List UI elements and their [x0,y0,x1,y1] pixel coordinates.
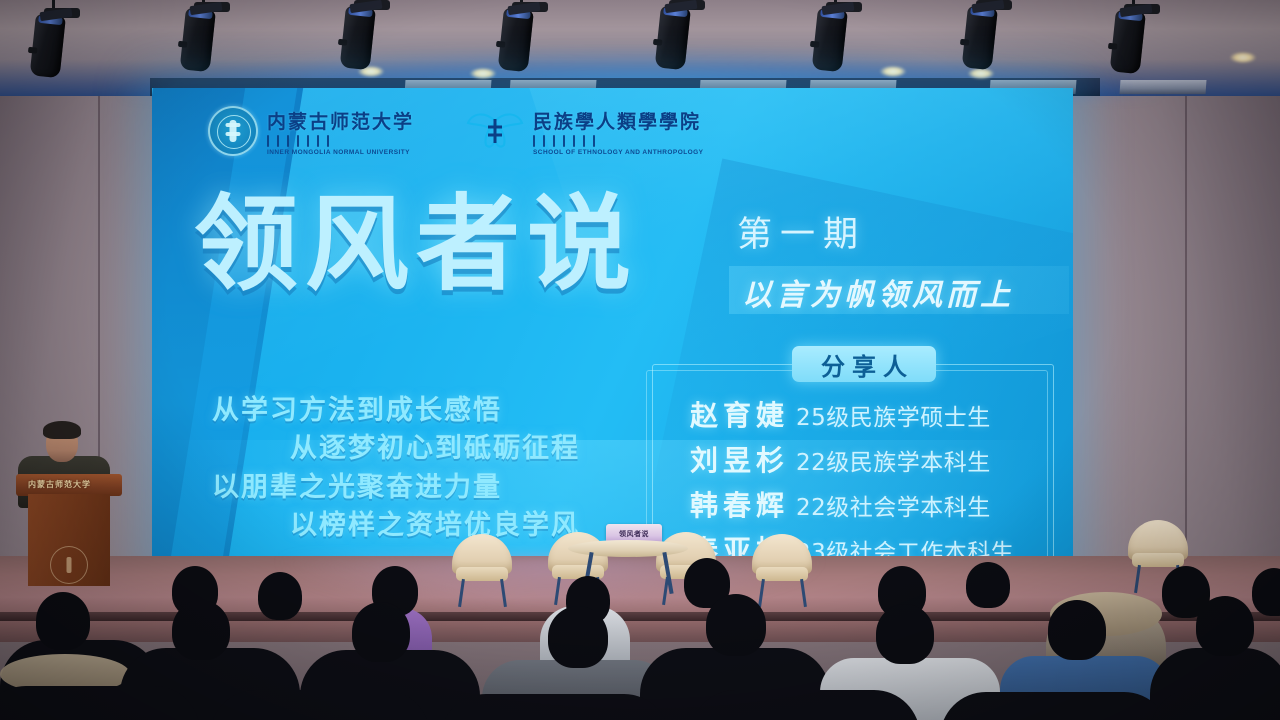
logo-school-of-ethnology-and-anthropology: 民族學人類學學院 SCHOOL OF ETHNOLOGY AND ANTHROP… [466,107,703,156]
audience-head [36,592,90,650]
lectern-podium: 内蒙古师范大学 [22,474,116,584]
speaker-row: 赵育婕 25级民族学硕士生 [690,394,1014,434]
audience-head [258,572,302,620]
audience-head [966,562,1010,608]
speakers-heading-badge: 分享人 [792,346,936,382]
event-title: 领风者说 [194,192,638,296]
ceiling-downlight [1230,52,1256,63]
audience-head [876,604,934,664]
speaker-name: 刘昱杉 [690,439,796,479]
event-slogan-block: 从学习方法到成长感悟 从逐梦初心到砥砺征程 以朋辈之光聚奋进力量 以榜样之资培优… [212,392,652,545]
podium-university-label: 内蒙古师范大学 [28,479,91,490]
table-nameplate-label: 领风者说 [619,529,649,539]
audience-head [1196,596,1254,656]
speaker-row: 刘昱杉 22级民族学本科生 [690,439,1014,479]
audience-head [172,600,230,660]
audience-shoulders [210,690,430,720]
slogan-line: 从逐梦初心到砥砺征程 [212,430,652,468]
event-issue-number: 第一期 [737,206,866,257]
speaker-affiliation: 22级社会学本科生 [796,488,991,522]
mongolian-script-icon [267,135,414,148]
speaker-row: 韩春辉 22级社会学本科生 [690,484,1014,524]
audience-shoulders [940,692,1170,720]
ceiling-downlight [968,68,994,79]
butterfly-emblem-icon [466,109,524,153]
audience-shoulders [0,686,200,720]
slogan-line: 以朋辈之光聚奋进力量 [212,469,652,507]
audience-head [706,594,766,656]
speaker-affiliation: 25级民族学硕士生 [796,398,991,432]
speaker-name: 赵育婕 [690,394,796,434]
logo-cn-text: 民族學人類學學院 [533,107,703,134]
truss-segment [1120,80,1207,94]
led-presentation-screen: 内蒙古师范大学 INNER MONGOLIA NORMAL UNIVERSITY [152,88,1073,580]
slogan-line: 从学习方法到成长感悟 [212,392,652,430]
podium-seal-icon [50,546,88,584]
logo-en-text: INNER MONGOLIA NORMAL UNIVERSITY [267,149,414,156]
ceiling-downlight [470,68,496,79]
university-seal-icon [208,106,258,156]
speaker-name: 韩春辉 [690,484,796,524]
speakers-heading-label: 分享人 [814,347,914,382]
logo-inner-mongolia-normal-university: 内蒙古师范大学 INNER MONGOLIA NORMAL UNIVERSITY [208,106,414,156]
audience-head [352,602,410,662]
logo-en-text: SCHOOL OF ETHNOLOGY AND ANTHROPOLOGY [533,149,703,156]
wall-seam [1185,60,1187,560]
auditorium-photo: 内蒙古师范大学 INNER MONGOLIA NORMAL UNIVERSITY [0,0,1280,720]
speaker-affiliation: 22级民族学本科生 [796,443,991,477]
logo-bar: 内蒙古师范大学 INNER MONGOLIA NORMAL UNIVERSITY [208,106,703,156]
audience-head [548,606,608,668]
audience-shoulders [690,690,920,720]
mongolian-script-icon [533,135,703,148]
speaker-list: 赵育婕 25级民族学硕士生 刘昱杉 22级民族学本科生 韩春辉 22级社会学本科… [690,394,1014,574]
audience-head [1048,600,1106,660]
ceiling-downlight [880,66,906,77]
event-tagline: 以言为帆领风而上 [742,270,1014,314]
audience-shoulders [440,694,670,720]
logo-cn-text: 内蒙古师范大学 [267,107,414,134]
